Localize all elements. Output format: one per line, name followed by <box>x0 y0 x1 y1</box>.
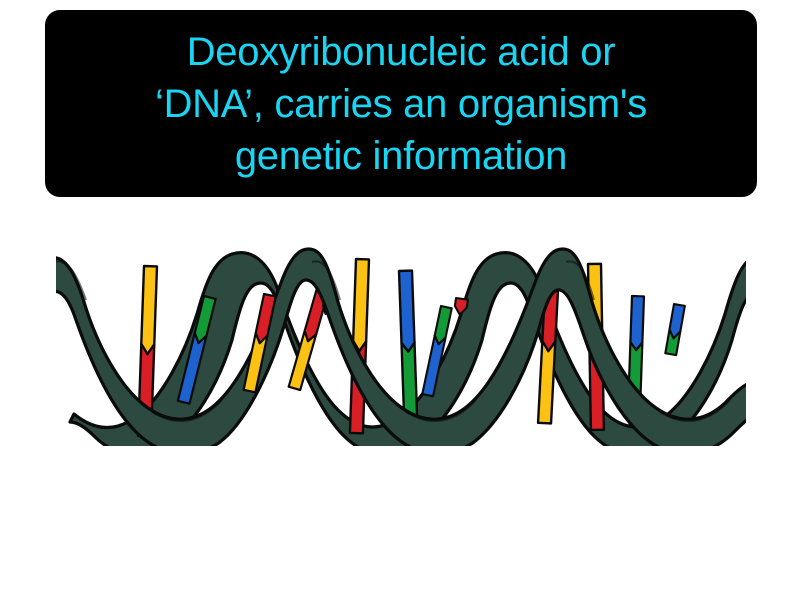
definition-card: Deoxyribonucleic acid or ‘DNA’, carries … <box>45 10 757 197</box>
base-pair <box>399 271 417 423</box>
base-pair <box>665 304 685 355</box>
dna-double-helix-illustration <box>56 236 746 446</box>
definition-text: Deoxyribonucleic acid or ‘DNA’, carries … <box>155 26 647 182</box>
dna-helix-svg <box>56 236 746 446</box>
